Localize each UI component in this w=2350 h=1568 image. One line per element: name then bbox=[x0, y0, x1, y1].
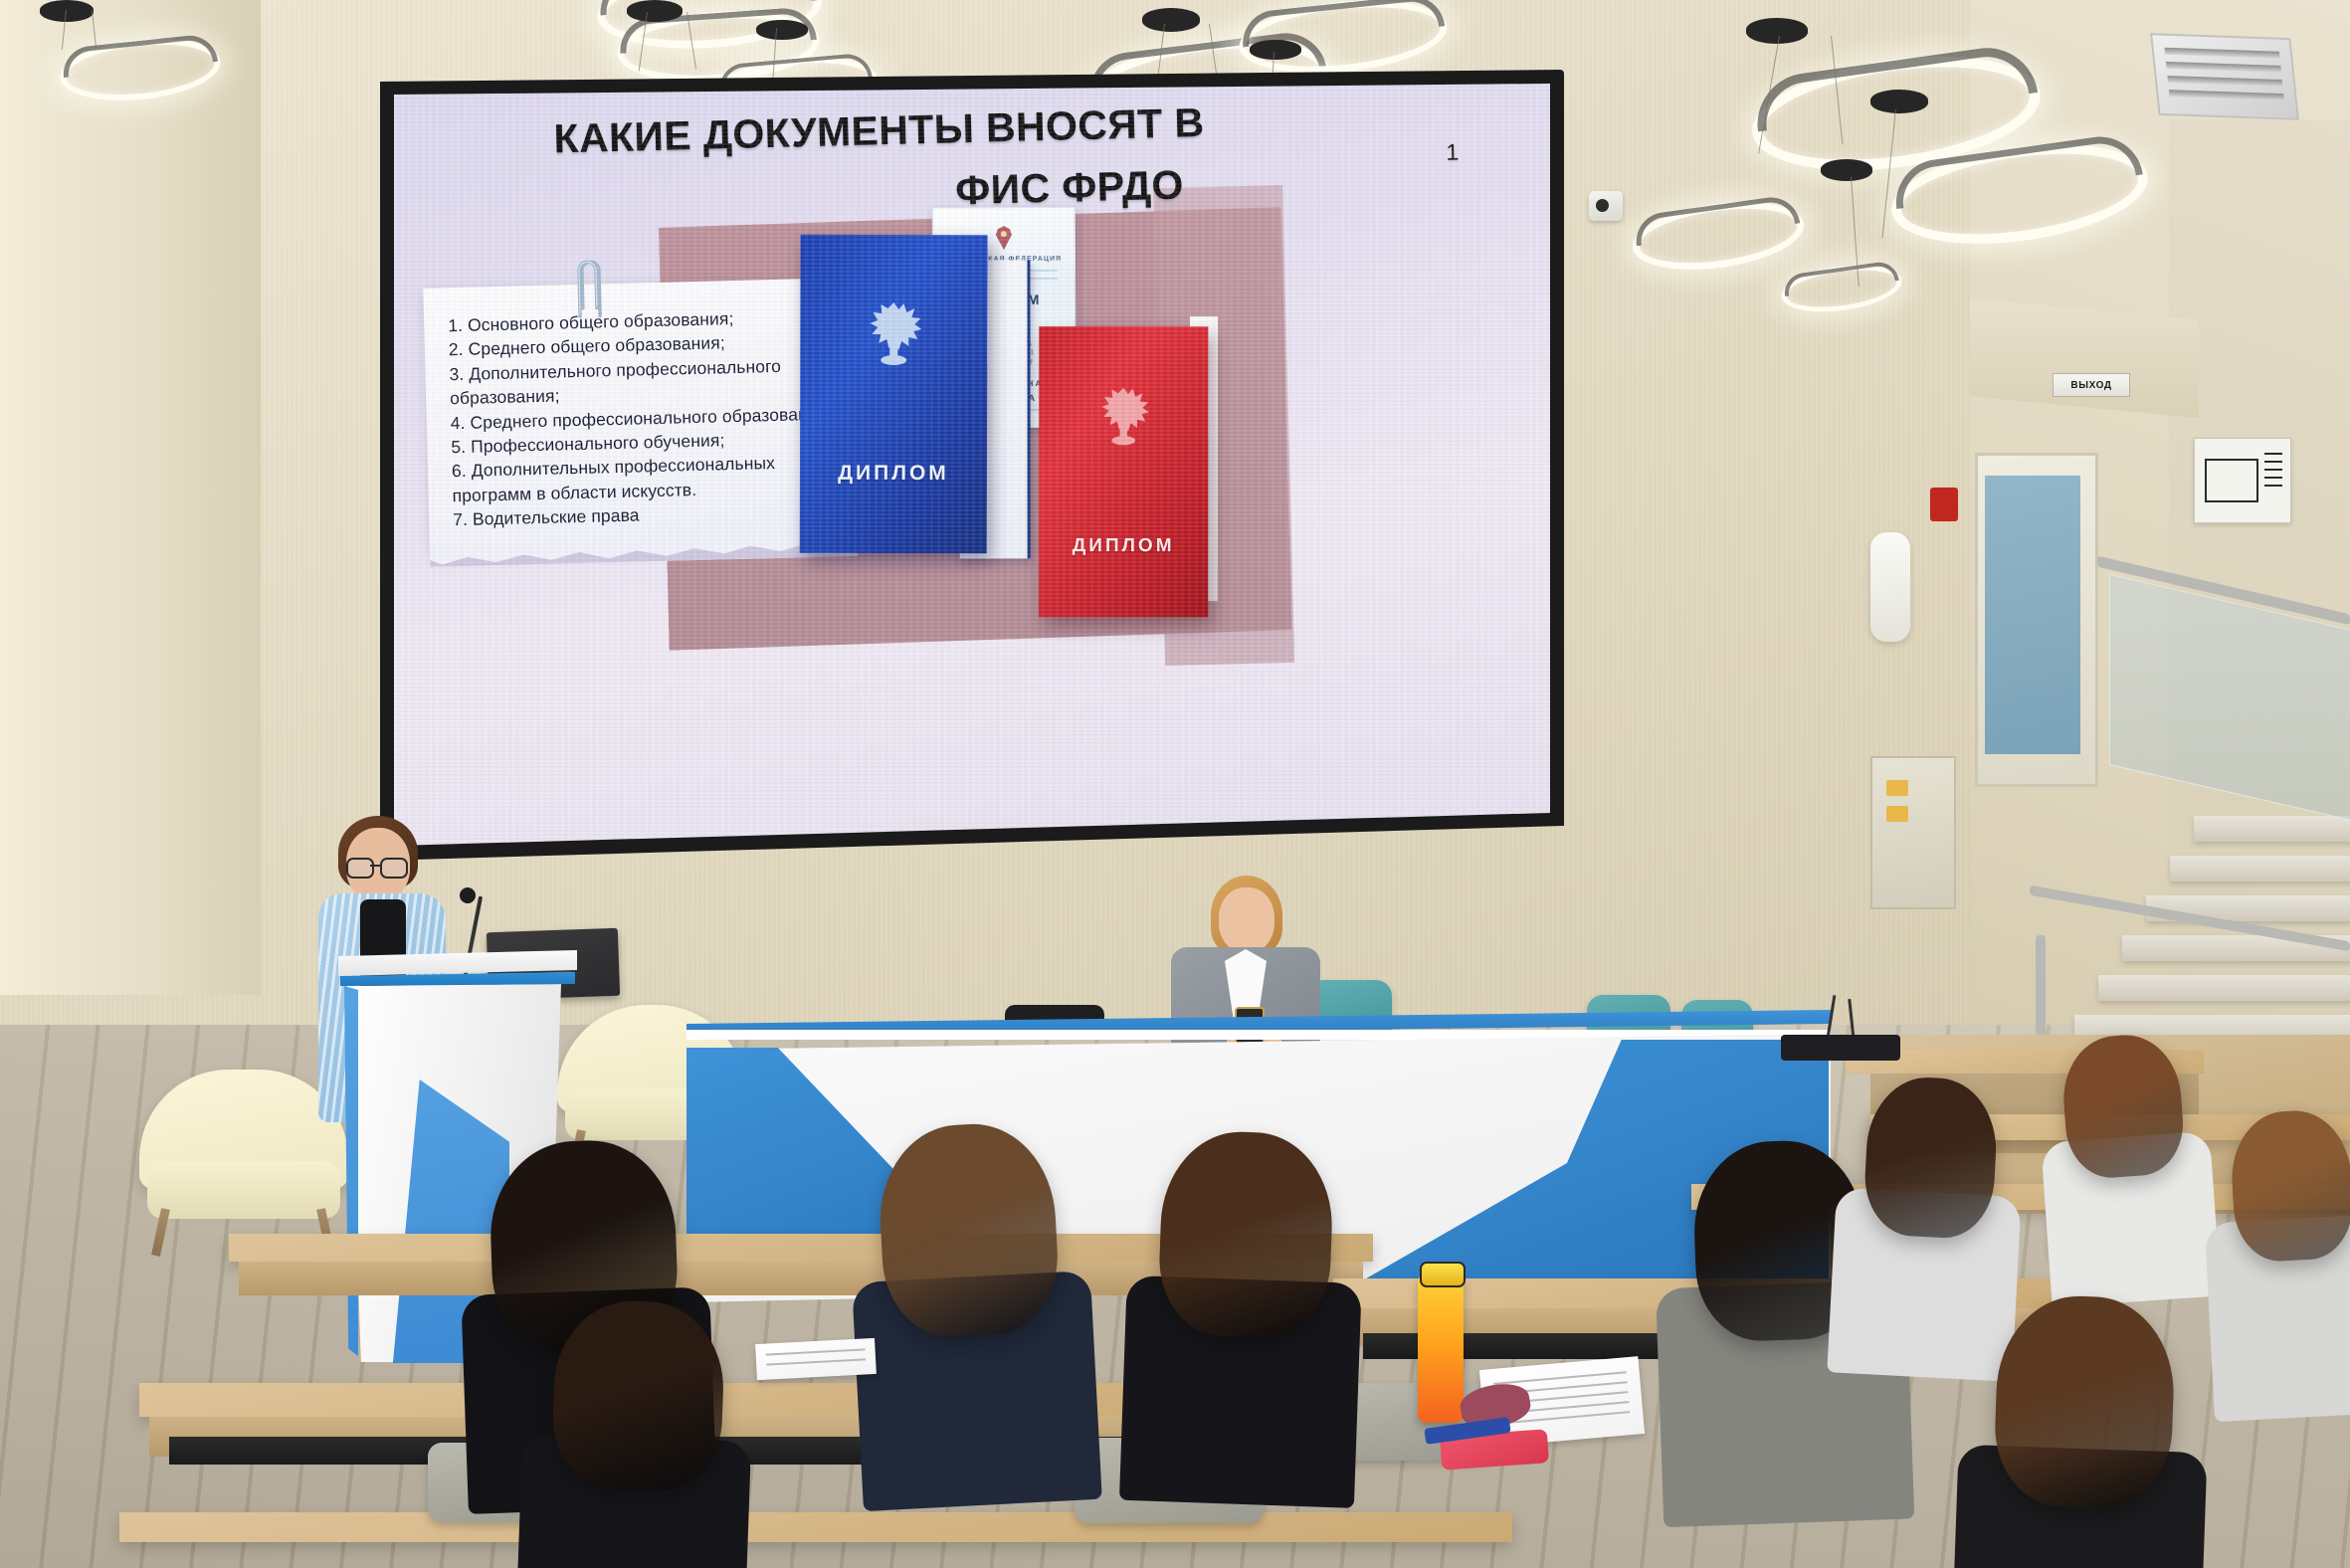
wall-column-left bbox=[0, 0, 261, 995]
student-desk bbox=[119, 1512, 1512, 1542]
projection-screen: КАКИЕ ДОКУМЕНТЫ ВНОСЯТ В ФИС ФРДО 1 1. О… bbox=[394, 84, 1550, 846]
fire-alarm-icon bbox=[1930, 488, 1958, 521]
electrical-cabinet bbox=[1870, 756, 1956, 909]
light-canopy bbox=[1870, 90, 1928, 113]
exit-sign: ВЫХОД bbox=[2053, 373, 2130, 397]
handout-paper bbox=[755, 1338, 877, 1380]
audience-member-head bbox=[1157, 1129, 1335, 1340]
security-camera-icon bbox=[1589, 191, 1623, 221]
light-canopy bbox=[1250, 40, 1301, 60]
audience-member-head bbox=[550, 1298, 726, 1493]
microphone-head bbox=[460, 887, 476, 903]
light-canopy bbox=[1821, 159, 1872, 181]
audience-member-head bbox=[2229, 1108, 2350, 1264]
evacuation-plan bbox=[2194, 438, 2291, 523]
audience-member-head bbox=[1862, 1075, 2000, 1241]
audience-member-head bbox=[1993, 1293, 2177, 1510]
light-canopy bbox=[40, 0, 94, 22]
light-canopy bbox=[1746, 18, 1808, 44]
ceiling-vent-icon bbox=[2150, 33, 2299, 120]
equipment-box bbox=[1781, 1035, 1900, 1061]
water-bottle bbox=[1418, 1274, 1464, 1423]
screen-scanlines bbox=[394, 84, 1550, 846]
lecture-hall-photo: КАКИЕ ДОКУМЕНТЫ ВНОСЯТ В ФИС ФРДО 1 1. О… bbox=[0, 0, 2350, 1568]
wall-speaker bbox=[1870, 532, 1910, 642]
water-bottle-cap bbox=[1420, 1262, 1466, 1287]
light-canopy bbox=[627, 0, 683, 22]
door-glass bbox=[1985, 476, 2080, 754]
armchair bbox=[139, 1070, 348, 1244]
light-canopy bbox=[1142, 8, 1200, 32]
light-canopy bbox=[756, 20, 808, 40]
